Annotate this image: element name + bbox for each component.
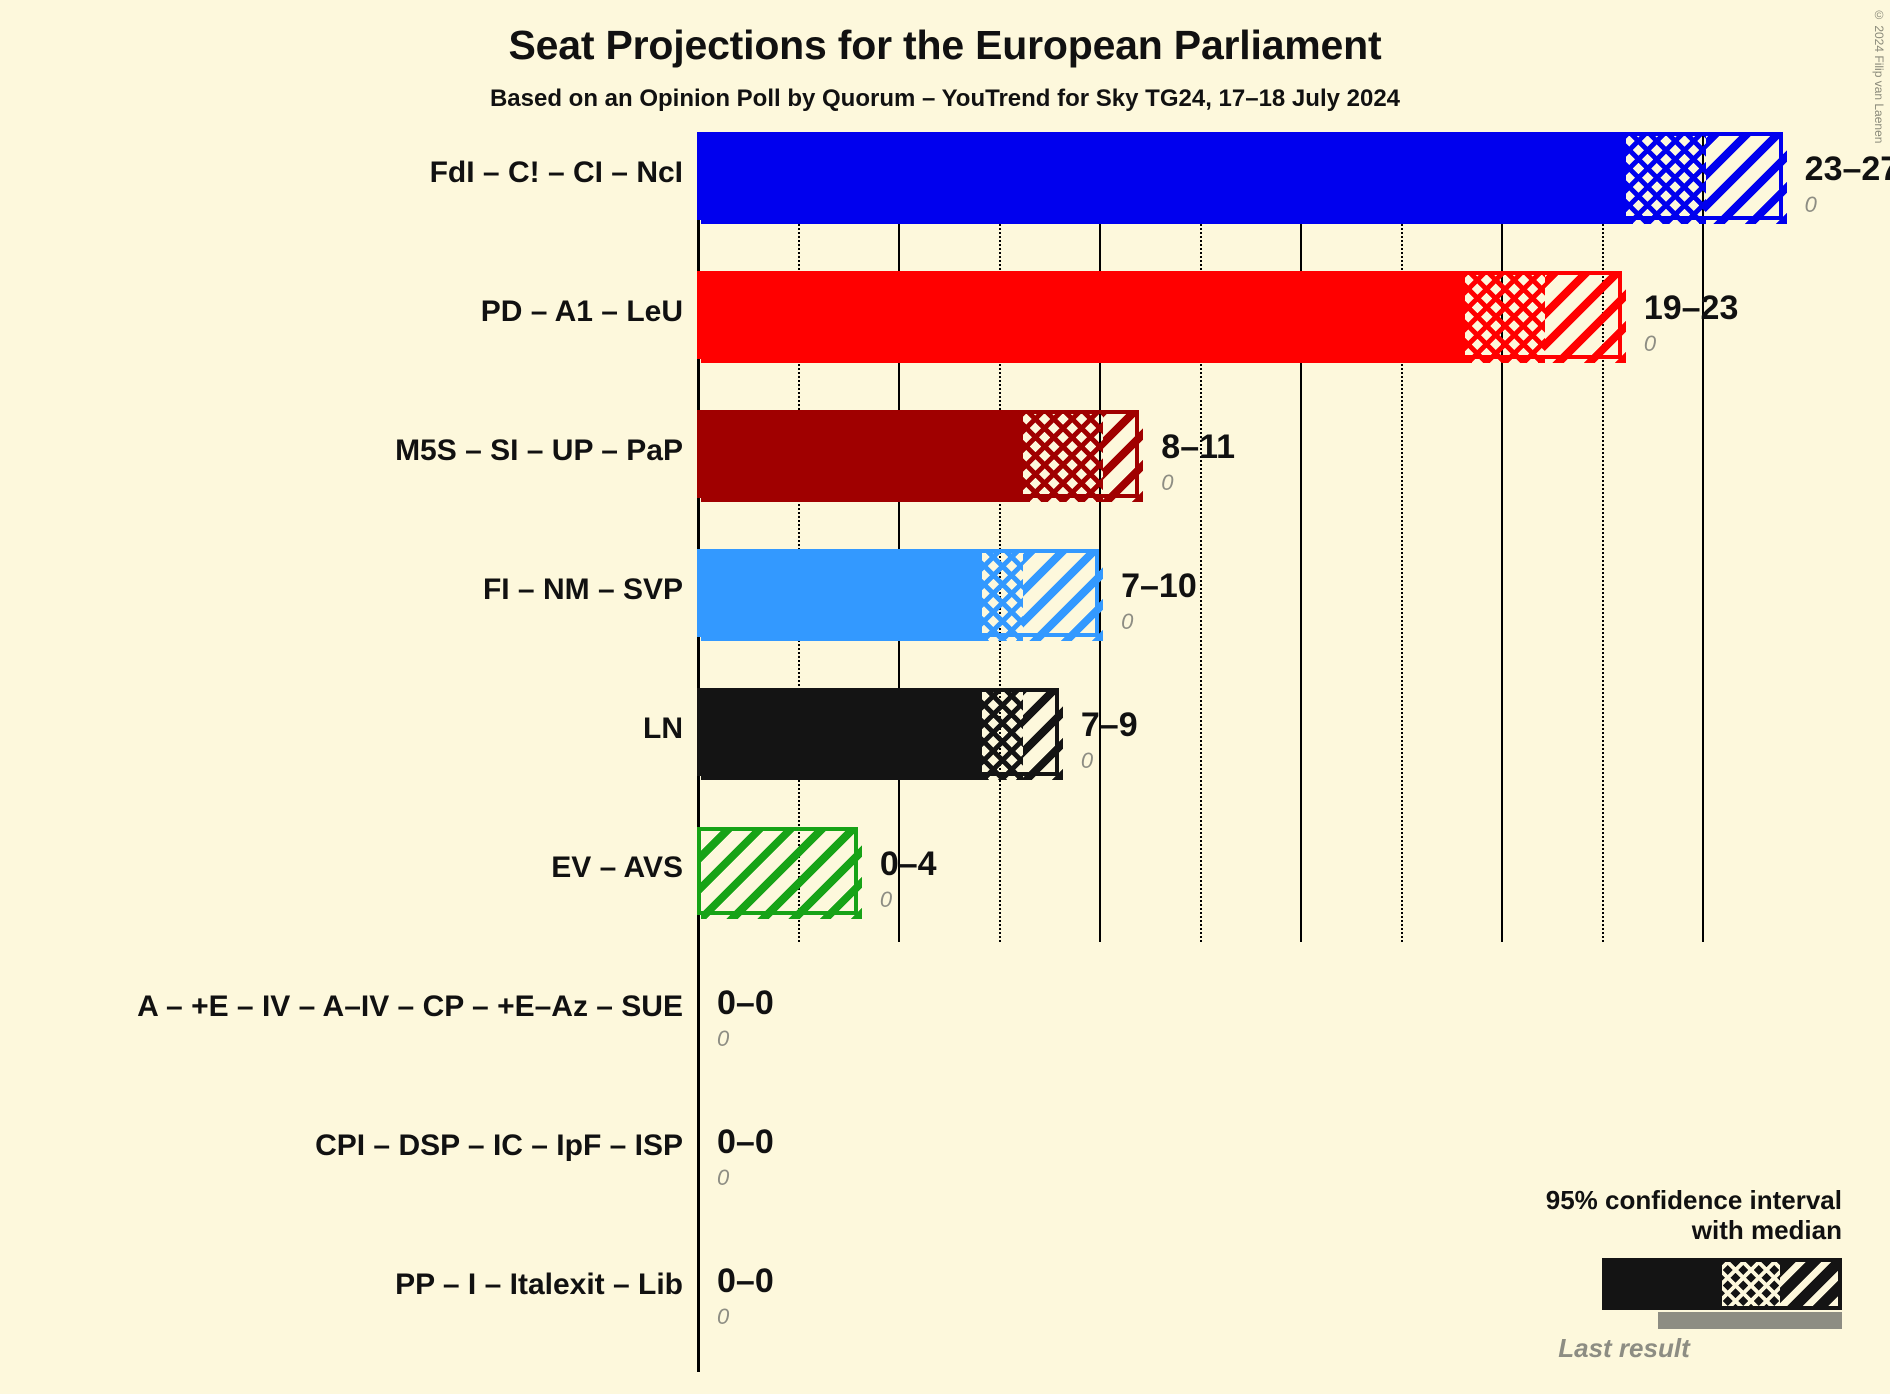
bar-row-label: A – +E – IV – A–IV – CP – +E–Az – SUE [0,990,683,1024]
copyright-notice: © 2024 Filip van Laenen [1872,8,1886,143]
bar-row-label: FdI – C! – CI – NcI [0,156,683,190]
legend-last-result-swatch [1658,1312,1842,1329]
bar-last-result-label: 0 [717,1026,729,1052]
bar-row: M5S – SI – UP – PaP8–110 [0,410,1890,549]
bar-segment-diagonal [701,831,862,919]
bar-row: FI – NM – SVP7–100 [0,549,1890,688]
bar-last-result-label: 0 [717,1304,729,1330]
bar-container [697,549,1099,637]
bar-segment-solid [701,414,1023,502]
bar-value-label: 7–9 [1081,706,1138,745]
legend-crosshatch-segment [1722,1262,1780,1306]
bar-segment-crosshatch [1626,136,1706,224]
bar-segment-crosshatch [1023,414,1103,502]
bar-segment-diagonal [1545,275,1625,363]
bar-row-label: PP – I – Italexit – Lib [0,1268,683,1302]
bar-row: LN7–90 [0,688,1890,827]
bar-container [697,132,1783,220]
bar-segment-crosshatch [1465,275,1545,363]
bar-segment-solid [701,692,982,780]
bar-container [697,410,1139,498]
confidence-interval-bar [697,271,1622,359]
bar-segment-crosshatch [982,692,1022,780]
bar-last-result-label: 0 [717,1165,729,1191]
confidence-interval-bar [697,827,858,915]
bar-segment-solid [701,275,1465,363]
bar-segment-solid [701,553,982,641]
bar-last-result-label: 0 [1161,470,1173,496]
bar-row: A – +E – IV – A–IV – CP – +E–Az – SUE0–0… [0,966,1890,1105]
bar-segment-diagonal [1023,692,1063,780]
bar-row: EV – AVS0–40 [0,827,1890,966]
chart-root: Seat Projections for the European Parlia… [0,0,1890,1394]
bar-row-label: PD – A1 – LeU [0,295,683,329]
bar-segment-diagonal [1023,553,1103,641]
confidence-interval-bar [697,410,1139,498]
bar-row-label: M5S – SI – UP – PaP [0,434,683,468]
bar-segment-solid [701,136,1626,224]
bar-row-label: FI – NM – SVP [0,573,683,607]
bar-row-label: EV – AVS [0,851,683,885]
chart-legend: 95% confidence interval with median Last… [1422,1186,1842,1364]
bar-segment-diagonal [1103,414,1143,502]
bar-last-result-label: 0 [1644,331,1656,357]
bar-value-label: 0–0 [717,1262,774,1301]
bar-row: PD – A1 – LeU19–230 [0,271,1890,410]
legend-swatch-bar [1602,1258,1842,1310]
legend-diagonal-segment [1780,1262,1838,1306]
legend-line-1: 95% confidence interval [1422,1186,1842,1216]
bar-segment-crosshatch [982,553,1022,641]
bar-row: FdI – C! – CI – NcI23–270 [0,132,1890,271]
bar-segment-diagonal [1706,136,1786,224]
confidence-interval-bar [697,688,1059,776]
bar-value-label: 8–11 [1161,428,1235,467]
bar-value-label: 0–4 [880,845,937,884]
bar-last-result-label: 0 [880,887,892,913]
bar-last-result-label: 0 [1121,609,1133,635]
bar-container [697,827,858,915]
bar-last-result-label: 0 [1081,748,1093,774]
bar-value-label: 0–0 [717,984,774,1023]
bar-value-label: 0–0 [717,1123,774,1162]
confidence-interval-bar [697,132,1783,220]
bar-last-result-label: 0 [1805,192,1817,218]
bar-container [697,271,1622,359]
bar-value-label: 7–10 [1121,567,1197,606]
legend-line-2: with median [1422,1216,1842,1246]
bar-container [697,688,1059,776]
bar-row-label: LN [0,712,683,746]
page-title: Seat Projections for the European Parlia… [0,22,1890,69]
bar-row-label: CPI – DSP – IC – IpF – ISP [0,1129,683,1163]
bar-value-label: 23–27 [1805,150,1890,189]
legend-last-result-label: Last result [1422,1333,1842,1364]
confidence-interval-bar [697,549,1099,637]
chart-subtitle: Based on an Opinion Poll by Quorum – You… [0,85,1890,113]
bar-value-label: 19–23 [1644,289,1739,328]
